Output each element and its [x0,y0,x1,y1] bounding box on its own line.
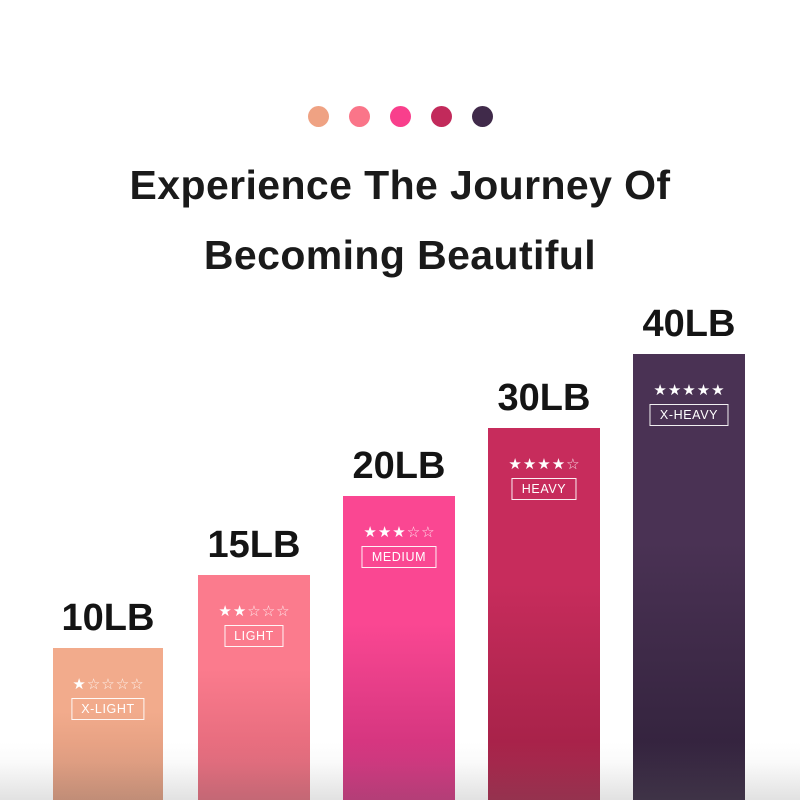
star-rating: ★★★☆☆ [363,524,434,540]
star-filled-icon: ★ [552,456,565,472]
star-filled-icon: ★ [508,456,521,472]
star-filled-icon: ★ [72,676,85,692]
bar-group[interactable]: 10LB★☆☆☆☆X-LIGHT [53,648,163,800]
star-rating: ★☆☆☆☆ [72,676,143,692]
star-rating: ★★★★☆ [508,456,579,472]
star-empty-icon: ☆ [116,676,129,692]
star-empty-icon: ☆ [276,603,289,619]
star-filled-icon: ★ [523,456,536,472]
bar-weight-label: 10LB [62,597,155,639]
star-empty-icon: ☆ [407,524,420,540]
bar-x-light[interactable] [53,648,163,800]
resistance-level-badge: X-LIGHT [71,698,145,720]
star-empty-icon: ☆ [101,676,114,692]
star-filled-icon: ★ [682,382,695,398]
bar-weight-label: 30LB [498,377,591,419]
star-filled-icon: ★ [363,524,376,540]
star-filled-icon: ★ [392,524,405,540]
bar-weight-label: 20LB [353,445,446,487]
star-empty-icon: ☆ [130,676,143,692]
bar-rating-block: ★★☆☆☆LIGHT [202,603,305,647]
bar-group[interactable]: 20LB★★★☆☆MEDIUM [343,496,455,800]
star-filled-icon: ★ [537,456,550,472]
star-filled-icon: ★ [233,603,246,619]
resistance-level-badge: LIGHT [224,625,284,647]
star-empty-icon: ☆ [247,603,260,619]
resistance-level-badge: HEAVY [512,478,576,500]
bar-group[interactable]: 15LB★★☆☆☆LIGHT [198,575,310,800]
star-empty-icon: ☆ [421,524,434,540]
star-rating: ★★★★★ [653,382,724,398]
star-empty-icon: ☆ [262,603,275,619]
star-filled-icon: ★ [653,382,666,398]
star-filled-icon: ★ [668,382,681,398]
star-filled-icon: ★ [378,524,391,540]
star-filled-icon: ★ [697,382,710,398]
bar-rating-block: ★☆☆☆☆X-LIGHT [57,676,158,720]
resistance-band-bar-chart: 10LB★☆☆☆☆X-LIGHT15LB★★☆☆☆LIGHT20LB★★★☆☆M… [0,0,800,800]
bar-rating-block: ★★★☆☆MEDIUM [347,524,450,568]
star-filled-icon: ★ [218,603,231,619]
bar-rating-block: ★★★★★X-HEAVY [637,382,740,426]
star-filled-icon: ★ [711,382,724,398]
star-rating: ★★☆☆☆ [218,603,289,619]
bar-weight-label: 15LB [208,524,301,566]
resistance-level-badge: X-HEAVY [650,404,728,426]
resistance-level-badge: MEDIUM [362,546,436,568]
bar-weight-label: 40LB [643,303,736,345]
bar-group[interactable]: 30LB★★★★☆HEAVY [488,428,600,800]
bar-group[interactable]: 40LB★★★★★X-HEAVY [633,354,745,800]
bar-rating-block: ★★★★☆HEAVY [492,456,595,500]
star-empty-icon: ☆ [87,676,100,692]
star-empty-icon: ☆ [566,456,579,472]
infographic-page: Experience The Journey Of Becoming Beaut… [0,0,800,800]
